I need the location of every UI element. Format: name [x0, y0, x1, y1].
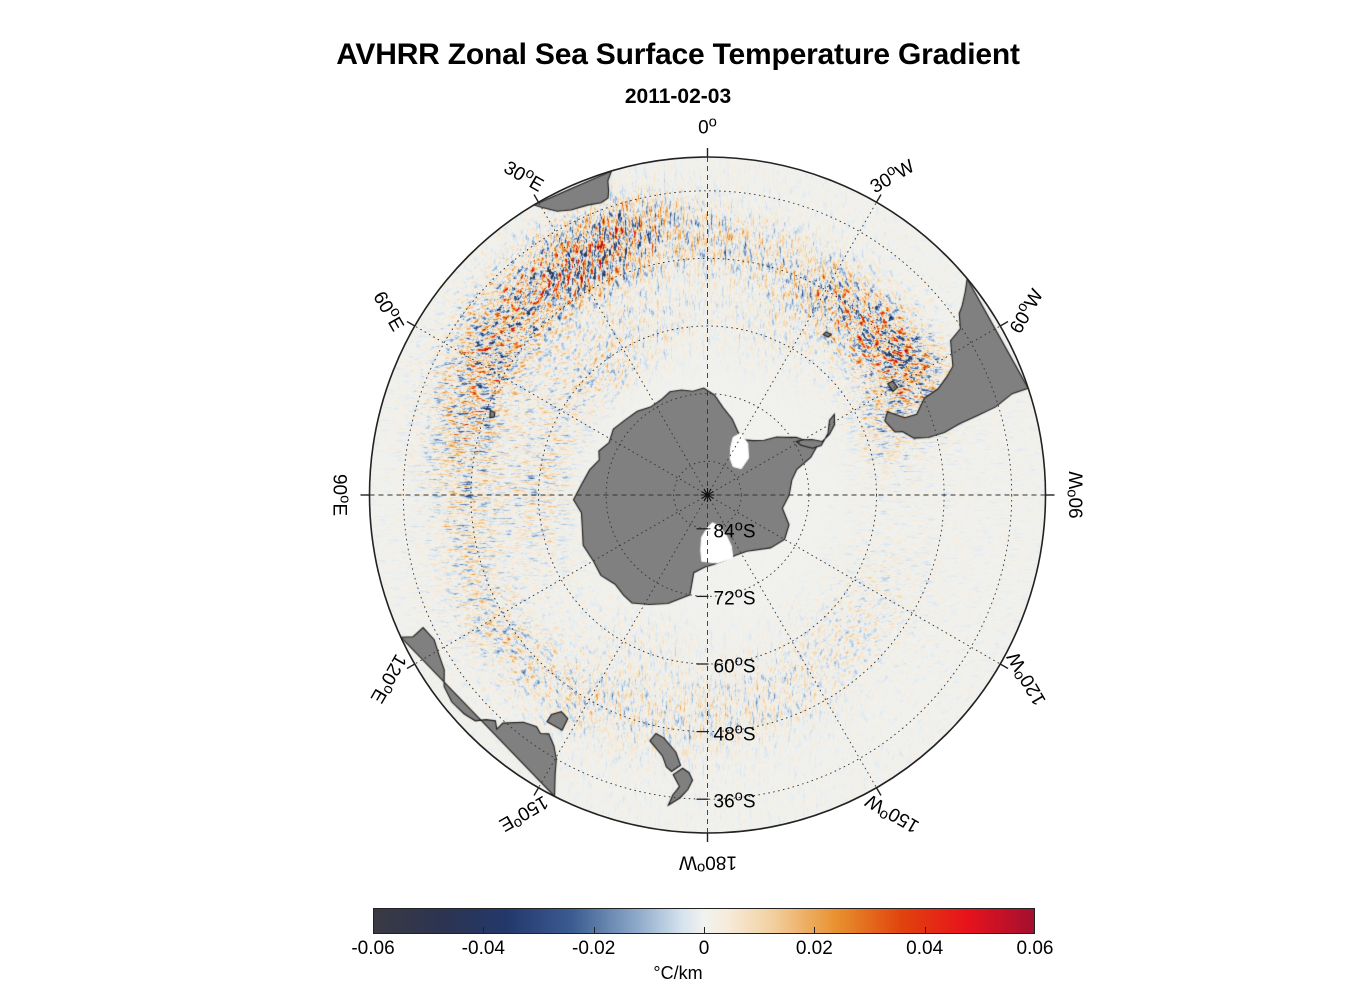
colorbar-tick-mark — [925, 927, 926, 934]
colorbar-unit-label: °C/km — [0, 963, 1356, 984]
colorbar-tick-label: 0.06 — [1017, 938, 1054, 960]
longitude-label: 0o — [698, 114, 717, 139]
latitude-label: 84oS — [714, 518, 756, 543]
latitude-label: 48oS — [714, 721, 756, 746]
colorbar-tick-label: 0 — [699, 938, 710, 960]
colorbar-tick-mark — [594, 927, 595, 934]
latitude-label: 36oS — [714, 789, 756, 814]
longitude-label: 90oE — [327, 474, 352, 516]
colorbar-tick-label: -0.04 — [462, 938, 505, 960]
colorbar-tick-mark — [814, 927, 815, 934]
latitude-label: 60oS — [714, 653, 756, 678]
colorbar-tick-mark — [704, 927, 705, 934]
colorbar-tick-label: -0.06 — [351, 938, 394, 960]
map-plot: 0o30oE60oE90oE120oE150oE180oW150oW120oW9… — [0, 0, 1356, 900]
longitude-label: 180oW — [679, 850, 737, 875]
sst-gradient-heatmap — [0, 0, 1356, 900]
colorbar-tick-mark — [483, 927, 484, 934]
latitude-label: 72oS — [714, 586, 756, 611]
colorbar-tick-label: 0.04 — [906, 938, 943, 960]
longitude-label: 90oW — [1063, 471, 1088, 518]
colorbar-tick-label: -0.02 — [572, 938, 615, 960]
colorbar-tick-label: 0.02 — [796, 938, 833, 960]
